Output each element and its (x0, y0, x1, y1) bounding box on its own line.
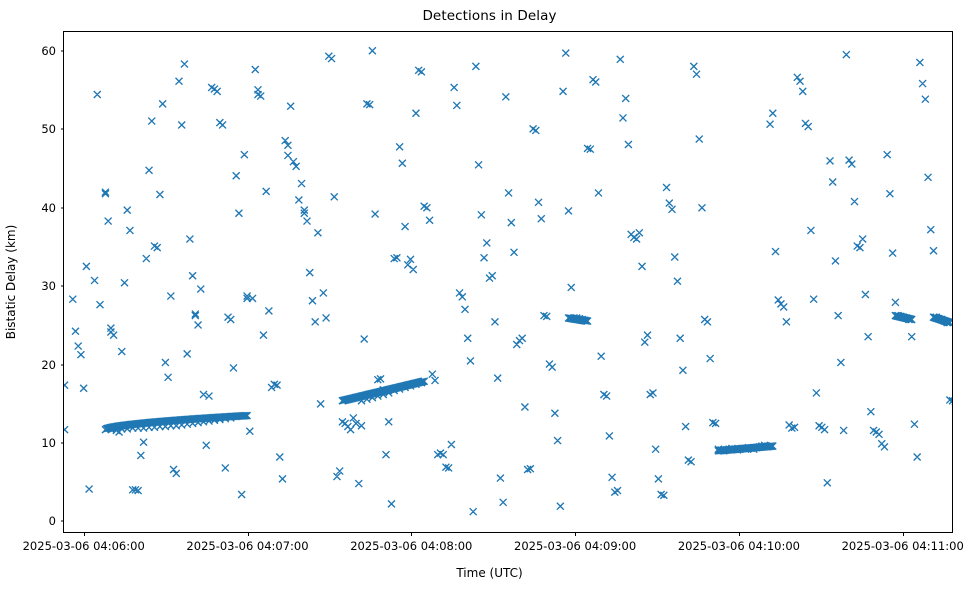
x-tick-mark (903, 532, 904, 536)
x-axis-label: Time (UTC) (0, 566, 979, 580)
y-tick-mark (61, 364, 65, 365)
y-tick-mark (61, 207, 65, 208)
x-tick-mark (739, 532, 740, 536)
x-tick-mark (84, 532, 85, 536)
x-tick-mark (411, 532, 412, 536)
y-tick-mark (61, 521, 65, 522)
chart-title: Detections in Delay (0, 8, 979, 24)
y-tick-mark (61, 129, 65, 130)
y-tick-mark (61, 50, 65, 51)
plot-axes: 0102030405060 2025-03-06 04:06:002025-03… (63, 31, 953, 533)
scatter-plot-canvas (64, 32, 952, 532)
matplotlib-figure: Detections in Delay Bistatic Delay (km) … (0, 0, 979, 590)
scatter-marker-group (64, 47, 952, 515)
y-tick-mark (61, 286, 65, 287)
y-tick-mark (61, 443, 65, 444)
x-tick-mark (575, 532, 576, 536)
y-axis-label: Bistatic Delay (km) (4, 225, 18, 340)
x-tick-mark (248, 532, 249, 536)
scatter-markers (64, 47, 952, 515)
